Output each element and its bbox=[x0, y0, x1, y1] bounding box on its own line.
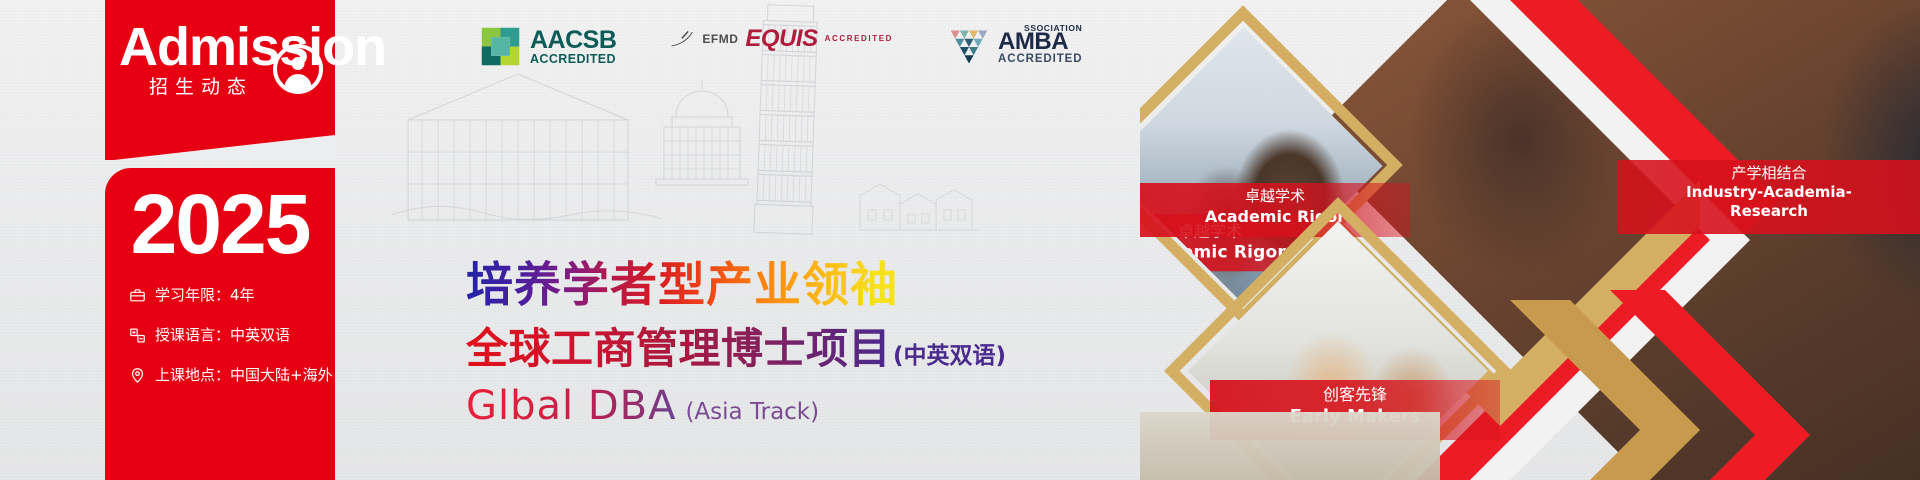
info-row-language: 授课语言：中英双语 bbox=[129, 326, 335, 345]
label-cn-industry: 产学相结合 bbox=[1618, 163, 1920, 183]
efmd-swoosh-icon bbox=[670, 30, 698, 48]
accreditation-aacsb: AACSB ACCREDITED bbox=[478, 24, 616, 69]
amba-text: SSOCIATION AMBA ACCREDITED bbox=[998, 24, 1082, 65]
amba-logo-icon bbox=[947, 25, 991, 65]
tagline-headline: 培养学者型产业领袖 bbox=[466, 260, 898, 312]
collage-photo-bottom-left bbox=[1140, 412, 1440, 480]
info-row-location: 上课地点：中国大陆+海外 bbox=[129, 366, 335, 385]
photo-collage: 卓越学术 Academic Rigor 卓越学术 Academic Rigor … bbox=[1140, 0, 1920, 480]
equis-status: ACCREDITED bbox=[825, 34, 893, 43]
location-pin-icon bbox=[129, 367, 146, 384]
admission-logo-block: Admission 招生动态 bbox=[105, 0, 335, 160]
program-title-cn-paren: (中英双语) bbox=[893, 336, 1006, 370]
aacsb-name: AACSB bbox=[530, 28, 616, 52]
aacsb-logo-icon bbox=[478, 24, 523, 69]
info-text-duration: 学习年限：4年 bbox=[155, 286, 255, 305]
label-en-academic-rigor: Academic Rigor bbox=[1140, 206, 1410, 227]
info-text-language: 授课语言：中英双语 bbox=[155, 326, 290, 345]
program-title-en-main: Glbal DBA bbox=[466, 383, 676, 429]
label-en-industry-2: Research bbox=[1618, 202, 1920, 221]
info-text-location: 上课地点：中国大陆+海外 bbox=[155, 366, 333, 385]
equis-name: EQUIS bbox=[745, 26, 817, 51]
program-title-cn-main: 全球工商管理博士项目 bbox=[466, 325, 891, 373]
aacsb-status: ACCREDITED bbox=[530, 52, 616, 66]
efmd-label: EFMD bbox=[702, 32, 738, 46]
label-bar-industry-academia-research: 产学相结合 Industry-Academia- Research bbox=[1618, 160, 1920, 234]
program-title-cn: 全球工商管理博士项目 (中英双语) bbox=[466, 325, 1006, 373]
language-icon bbox=[129, 327, 146, 344]
info-list: 学习年限：4年 授课语言：中英双语 bbox=[129, 286, 335, 406]
amba-status: ACCREDITED bbox=[998, 54, 1082, 66]
accreditation-amba: SSOCIATION AMBA ACCREDITED bbox=[947, 24, 1082, 65]
program-facts-block: 2025 学习年限：4年 bbox=[105, 168, 335, 480]
aacsb-text: AACSB ACCREDITED bbox=[530, 28, 616, 66]
red-chevron-lower bbox=[1610, 290, 1920, 480]
briefcase-icon bbox=[129, 287, 146, 304]
label-en-industry-1: Industry-Academia- bbox=[1618, 183, 1920, 202]
program-title-en-sub: (Asia Track) bbox=[685, 399, 819, 425]
person-icon bbox=[273, 44, 323, 94]
admission-banner: Admission 招生动态 2025 学习年限：4年 bbox=[0, 0, 1920, 480]
admission-chinese: 招生动态 bbox=[149, 72, 253, 99]
accreditation-equis: EFMD EQUIS ACCREDITED bbox=[670, 24, 893, 51]
admission-word: Admission bbox=[119, 20, 386, 74]
accreditation-logos: AACSB ACCREDITED EFMD EQUIS ACCREDITED bbox=[478, 24, 1082, 69]
year-label: 2025 bbox=[105, 178, 335, 270]
program-title-en: Glbal DBA (Asia Track) bbox=[466, 383, 819, 429]
info-row-duration: 学习年限：4年 bbox=[129, 286, 335, 305]
label-cn-academic-rigor: 卓越学术 bbox=[1140, 186, 1410, 206]
